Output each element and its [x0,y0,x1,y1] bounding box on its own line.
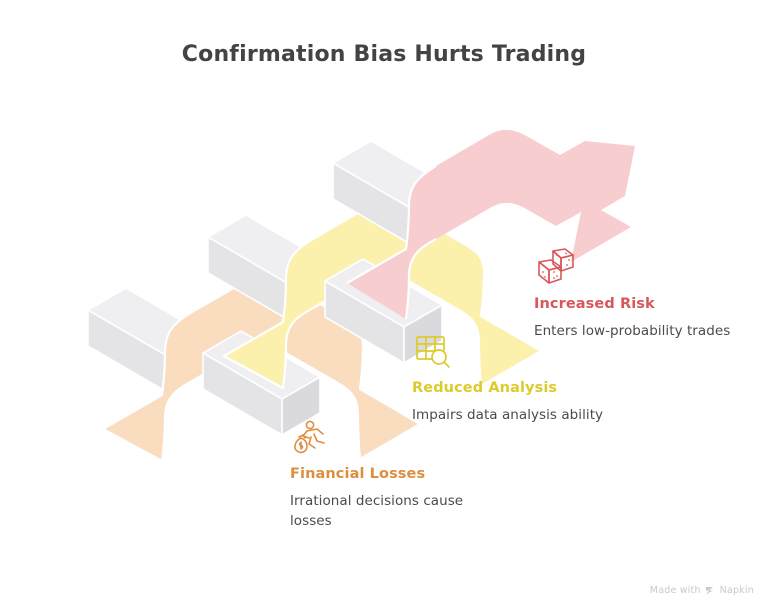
watermark: Made with Napkin [650,585,754,596]
step-reduced-analysis: Reduced Analysis Impairs data analysis a… [412,331,627,426]
step-title-reduced-analysis: Reduced Analysis [412,381,627,397]
step-financial-losses: Financial Losses Irrational decisions ca… [290,417,505,531]
step-description-financial-losses: Irrational decisions cause losses [290,492,505,531]
infographic-canvas: Confirmation Bias Hurts Trading [0,0,768,606]
step-block-3 [208,215,325,319]
step-increased-risk: Increased Risk Enters low-probability tr… [534,247,749,342]
step-block-1 [88,288,205,392]
step-title-increased-risk: Increased Risk [534,297,749,313]
step-title-financial-losses: Financial Losses [290,467,505,483]
watermark-brand-label: Napkin [720,585,754,596]
page-title: Confirmation Bias Hurts Trading [0,42,768,67]
watermark-made-with-label: Made with [650,585,701,596]
step-block-5 [333,141,450,245]
dice-icon [534,247,576,289]
napkin-logo-icon [705,585,716,596]
money-bag-running-person-icon [290,417,332,459]
table-magnifier-icon [412,331,454,373]
